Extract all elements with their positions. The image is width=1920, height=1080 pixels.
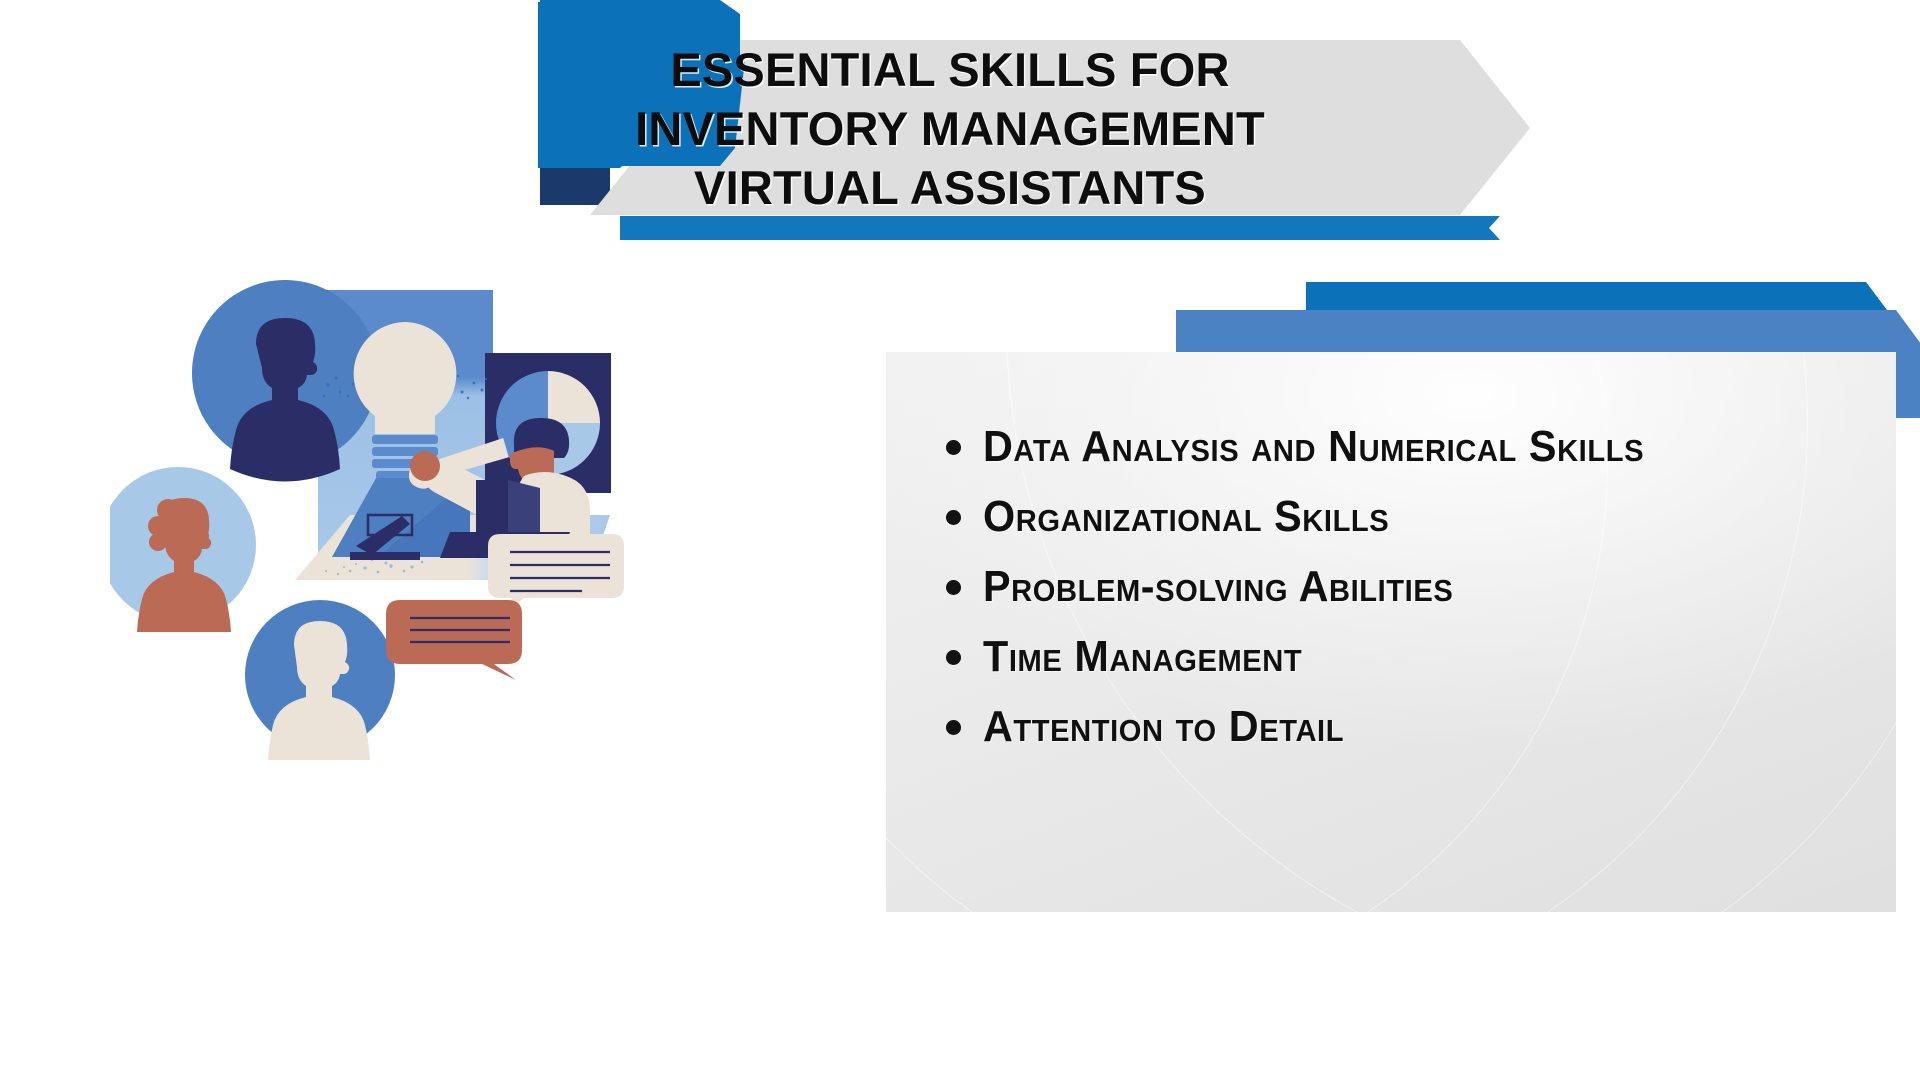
list-item[interactable]: Problem-solving Abilities xyxy=(942,556,1856,618)
bullet-point-icon xyxy=(946,510,961,525)
bullet-point-icon xyxy=(946,650,961,665)
list-item-label: Data Analysis and Numerical Skills xyxy=(983,424,1644,470)
card-surface: Data Analysis and Numerical Skills Organ… xyxy=(886,352,1896,912)
avatar-mid-left xyxy=(110,467,256,632)
illustration-svg xyxy=(110,280,750,800)
list-item-label: Time Management xyxy=(983,634,1302,680)
list-item[interactable]: Attention to Detail xyxy=(942,696,1856,758)
team-collaboration-illustration xyxy=(110,280,750,800)
hand-icon xyxy=(410,451,440,481)
list-item[interactable]: Organizational Skills xyxy=(942,486,1856,548)
list-item-label: Attention to Detail xyxy=(983,704,1344,750)
bullet-point-icon xyxy=(946,720,961,735)
skills-card: Data Analysis and Numerical Skills Organ… xyxy=(886,352,1896,912)
avatar-bottom xyxy=(245,600,395,760)
page-title: Essential Skills for Inventory Managemen… xyxy=(600,40,1300,218)
list-item-label: Organizational Skills xyxy=(983,494,1389,540)
page-title-text: Essential Skills for Inventory Managemen… xyxy=(600,40,1300,218)
skills-bullet-list: Data Analysis and Numerical Skills Organ… xyxy=(942,416,1856,766)
bullet-point-icon xyxy=(946,440,961,455)
list-item-label: Problem-solving Abilities xyxy=(983,564,1453,610)
list-item[interactable]: Data Analysis and Numerical Skills xyxy=(942,416,1856,478)
header-banner: Essential Skills for Inventory Managemen… xyxy=(0,0,1920,300)
bullet-point-icon xyxy=(946,580,961,595)
speech-bubble-terracotta xyxy=(386,600,522,680)
banner-underbar xyxy=(620,216,1500,240)
list-item[interactable]: Time Management xyxy=(942,626,1856,688)
